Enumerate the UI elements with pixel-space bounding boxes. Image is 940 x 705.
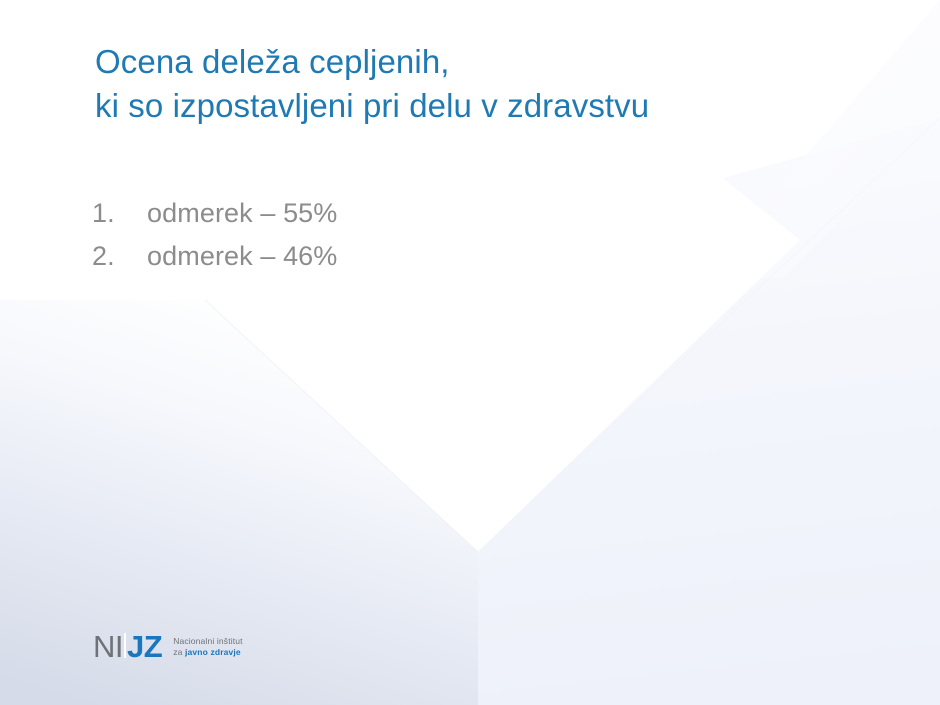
logo-tagline-strong: javno zdravje bbox=[185, 647, 241, 657]
logo-tagline-line-1: Nacionalni inštitut bbox=[173, 636, 242, 647]
list-item-label: odmerek – 55% bbox=[147, 192, 337, 235]
presentation-slide: Ocena deleža cepljenih, ki so izpostavlj… bbox=[0, 0, 940, 705]
nijz-logo: NI JZ Nacionalni inštitut za javno zdrav… bbox=[93, 630, 243, 662]
title-line-2: ki so izpostavljeni pri delu v zdravstvu bbox=[95, 84, 855, 128]
logo-wordmark: NI JZ bbox=[93, 631, 162, 662]
logo-tagline-line-2: za javno zdravje bbox=[173, 647, 242, 658]
logo-wordmark-jz: JZ bbox=[127, 631, 162, 662]
logo-tagline: Nacionalni inštitut za javno zdravje bbox=[173, 636, 242, 658]
list-item-marker: 1. bbox=[92, 192, 147, 235]
page-title: Ocena deleža cepljenih, ki so izpostavlj… bbox=[95, 40, 855, 128]
logo-divider-bar bbox=[124, 633, 126, 658]
logo-tagline-za: za bbox=[173, 647, 185, 657]
list-item: 2. odmerek – 46% bbox=[92, 235, 692, 278]
list-item-label: odmerek – 46% bbox=[147, 235, 337, 278]
list-item: 1. odmerek – 55% bbox=[92, 192, 692, 235]
title-line-1: Ocena deleža cepljenih, bbox=[95, 40, 855, 84]
numbered-list: 1. odmerek – 55% 2. odmerek – 46% bbox=[92, 192, 692, 278]
list-item-marker: 2. bbox=[92, 235, 147, 278]
logo-wordmark-ni: NI bbox=[93, 631, 123, 662]
